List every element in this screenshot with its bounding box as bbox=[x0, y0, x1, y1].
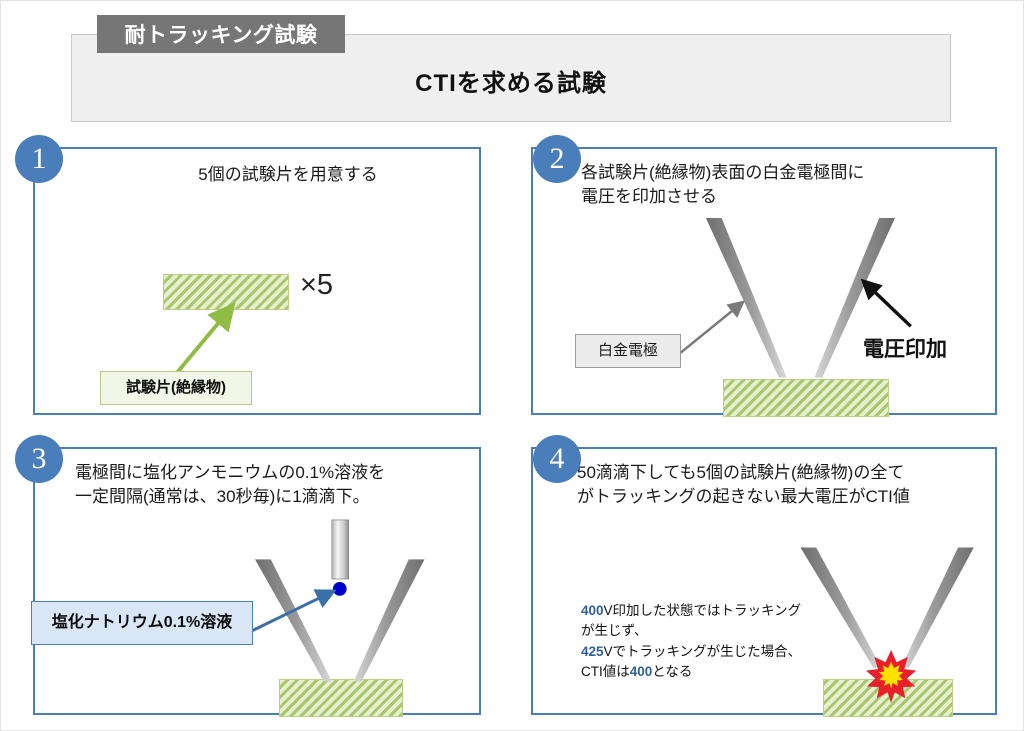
multiplier-label: ×5 bbox=[300, 269, 333, 302]
note-line3-rest: Vでトラッキングが生じた場合、 bbox=[604, 644, 802, 659]
specimen-label-text: 試験片(絶縁物) bbox=[126, 380, 226, 397]
platinum-electrode-label-text: 白金電極 bbox=[598, 343, 658, 360]
panel-4-heading: 50滴滴下しても5個の試験片(絶縁物)の全て がトラッキングの起きない最大電圧が… bbox=[577, 461, 991, 509]
note-line1-rest: V印加した状態ではトラッキング bbox=[604, 603, 802, 618]
specimen-slab bbox=[723, 379, 889, 417]
step-number-4-text: 4 bbox=[550, 442, 565, 476]
step-number-4: 4 bbox=[533, 435, 581, 483]
step-number-2: 2 bbox=[533, 135, 581, 183]
header-tab-label: 耐トラッキング試験 bbox=[125, 19, 318, 49]
note-line2: が生じず、 bbox=[581, 623, 648, 638]
voltage-applied-label: 電圧印加 bbox=[863, 333, 947, 363]
step-number-1-text: 1 bbox=[32, 142, 47, 176]
solution-label: 塩化ナトリウム0.1%溶液 bbox=[31, 601, 253, 645]
specimen-slab bbox=[163, 274, 289, 310]
note-cti-value: 400 bbox=[630, 664, 653, 679]
specimen-label: 試験片(絶縁物) bbox=[100, 371, 252, 405]
droplet-icon bbox=[333, 582, 347, 596]
panel-step-2: 各試験片(絶縁物)表面の白金電極間に 電圧を印加させる bbox=[531, 147, 997, 415]
step-number-2-text: 2 bbox=[550, 142, 565, 176]
panel-step-3: 電極間に塩化アンモニウムの0.1%溶液を 一定間隔(通常は、30秒毎)に1滴滴下… bbox=[33, 447, 481, 715]
step-number-3: 3 bbox=[15, 435, 63, 483]
note-voltage-400: 400 bbox=[581, 603, 604, 618]
panel-step-1: 5個の試験片を用意する ×5 試験片(絶縁物) bbox=[33, 147, 481, 415]
note-voltage-425: 425 bbox=[581, 644, 604, 659]
specimen-slab bbox=[279, 679, 403, 717]
panel-step-4: 50滴滴下しても5個の試験片(絶縁物)の全て がトラッキングの起きない最大電圧が… bbox=[531, 447, 997, 715]
step-number-3-text: 3 bbox=[32, 442, 47, 476]
solution-label-text: 塩化ナトリウム0.1%溶液 bbox=[52, 614, 232, 632]
note-line4-post: となる bbox=[652, 664, 692, 679]
page-title: CTIを求める試験 bbox=[72, 63, 950, 98]
header-tab: 耐トラッキング試験 bbox=[97, 15, 345, 53]
specimen-slab bbox=[823, 679, 953, 717]
note-line4-pre: CTI値は bbox=[581, 664, 630, 679]
diagram-page: CTIを求める試験 耐トラッキング試験 5個の試験片を用意する ×5 試験片(絶… bbox=[0, 0, 1024, 731]
panel-1-heading: 5個の試験片を用意する bbox=[113, 163, 463, 187]
cti-explanation-note: 400V印加した状態ではトラッキング が生じず、 425Vでトラッキングが生じた… bbox=[581, 601, 881, 682]
step-number-1: 1 bbox=[15, 135, 63, 183]
platinum-electrode-label: 白金電極 bbox=[575, 334, 681, 368]
panel-3-heading: 電極間に塩化アンモニウムの0.1%溶液を 一定間隔(通常は、30秒毎)に1滴滴下… bbox=[75, 461, 495, 509]
panel-2-heading: 各試験片(絶縁物)表面の白金電極間に 電圧を印加させる bbox=[581, 161, 991, 209]
